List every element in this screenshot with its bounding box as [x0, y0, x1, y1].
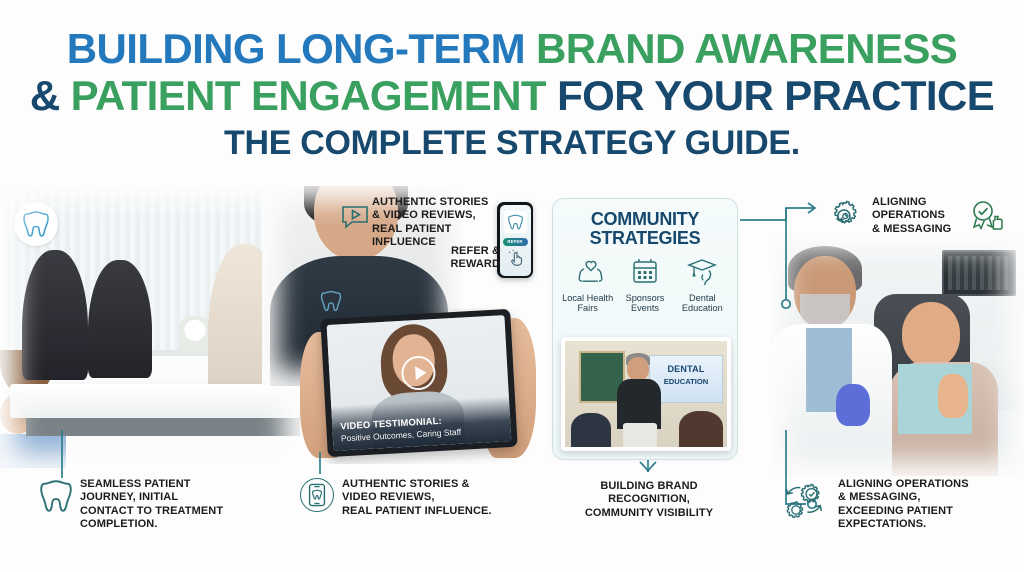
tooth-icon — [504, 211, 527, 233]
annotation-line: AUTHENTIC STORIES — [372, 196, 496, 209]
calendar-icon — [630, 256, 660, 286]
patient-thumbs-up — [938, 374, 968, 418]
photo-dental-education-classroom: DENTAL EDUCATION — [561, 337, 731, 451]
phone-screen: REFER — [500, 205, 531, 276]
dentist-gloved-thumbs-up — [836, 384, 870, 426]
annotation-text-block: AUTHENTIC STORIES & VIDEO REVIEWS, REAL … — [342, 478, 492, 518]
annotation-aligning-operations-top: ALIGNING OPERATIONS & MESSAGING — [872, 196, 968, 236]
annotation-seamless-patient-journey: SEAMLESS PATIENT JOURNEY, INITIAL CONTAC… — [40, 478, 270, 532]
photo-hands-holding-tablet: VIDEO TESTIMONIAL: Positive Outcomes, Ca… — [300, 308, 536, 464]
phone-mockup-refer-reward[interactable]: REFER — [497, 202, 533, 278]
headline-block: BUILDING LONG-TERM BRAND AWARENESS & PAT… — [0, 28, 1024, 160]
annotation-line: ALIGNING — [872, 196, 968, 209]
community-item-label: Dental Education — [674, 293, 730, 314]
annotation-line: COMMUNITY VISIBILITY — [566, 507, 732, 520]
dentist-beard — [800, 294, 850, 328]
community-card-title: COMMUNITY STRATEGIES — [553, 199, 737, 248]
gear-wrench-icon — [826, 198, 862, 234]
annotation-text-block: SEAMLESS PATIENT JOURNEY, INITIAL CONTAC… — [80, 478, 223, 532]
annotation-aligning-operations-bottom: ALIGNING OPERATIONS & MESSAGING, EXCEEDI… — [778, 478, 1016, 532]
annotation-line: ALIGNING OPERATIONS — [838, 478, 969, 491]
headline-line-1: BUILDING LONG-TERM BRAND AWARENESS — [0, 28, 1024, 70]
label-line-1: Sponsors — [617, 293, 673, 303]
community-card-title-line-1: COMMUNITY — [559, 210, 731, 229]
annotation-line: & MESSAGING, — [838, 491, 969, 504]
headline-line-2: & PATIENT ENGAGEMENT FOR YOUR PRACTICE — [0, 75, 1024, 117]
photo-dental-reception — [0, 188, 300, 468]
annotation-line: REFER & — [448, 245, 500, 258]
patient-jeans — [0, 434, 66, 468]
clinic-tooth-logo — [14, 202, 58, 246]
annotation-line: AUTHENTIC STORIES & — [342, 478, 492, 491]
reception-counter-top — [10, 384, 300, 418]
annotation-line: VIDEO REVIEWS, — [342, 491, 492, 504]
two-gears-cycle-check-icon — [778, 478, 830, 529]
presentation-title-line-1: DENTAL — [650, 364, 722, 374]
annotation-building-brand-recognition: BUILDING BRAND RECOGNITION, COMMUNITY VI… — [566, 480, 732, 520]
photo-dentist-patient-thumbs-up — [770, 232, 1024, 476]
video-chat-bubble-icon — [340, 202, 370, 232]
community-card-title-line-2: STRATEGIES — [559, 229, 731, 248]
headline-line-2-part-3: FOR YOUR PRACTICE — [546, 72, 994, 119]
annotation-authentic-stories-bottom: AUTHENTIC STORIES & VIDEO REVIEWS, REAL … — [300, 478, 525, 518]
annotation-line: BUILDING BRAND — [566, 480, 732, 493]
annotation-line: CONTACT TO TREATMENT — [80, 505, 223, 518]
annotation-line: EXCEEDING PATIENT — [838, 505, 969, 518]
annotation-line: EXPECTATIONS. — [838, 518, 969, 531]
presentation-title-line-2: EDUCATION — [650, 377, 722, 386]
infographic-canvas: BUILDING LONG-TERM BRAND AWARENESS & PAT… — [0, 0, 1024, 572]
headline-line-2-part-2: PATIENT ENGAGEMENT — [71, 72, 546, 119]
graduation-cap-icon — [685, 256, 719, 286]
annotation-authentic-stories-top: AUTHENTIC STORIES & VIDEO REVIEWS, REAL … — [372, 196, 496, 250]
headline-line-1-part-2: BRAND AWARENESS — [536, 25, 957, 72]
reception-flowers — [178, 316, 212, 352]
annotation-line: REAL PATIENT — [372, 223, 496, 236]
annotation-line: OPERATIONS — [872, 209, 968, 222]
staff-2-body — [88, 260, 152, 378]
label-line-1: Dental — [674, 293, 730, 303]
video-caption: VIDEO TESTIMONIAL: Positive Outcomes, Ca… — [331, 396, 511, 451]
label-line-1: Local Health — [560, 293, 616, 303]
tooth-icon — [40, 478, 72, 519]
annotation-line: REWARD — [448, 258, 500, 271]
audience-handout — [623, 423, 657, 447]
annotation-line: SEAMLESS PATIENT — [80, 478, 223, 491]
speaker-body — [617, 379, 661, 429]
audience-member — [571, 413, 611, 447]
tap-hand-icon — [506, 249, 526, 269]
patient-head — [902, 302, 960, 368]
community-item-local-health-fairs[interactable]: Local Health Fairs — [560, 256, 616, 314]
community-item-label: Local Health Fairs — [560, 293, 616, 314]
headline-line-2-part-1: & — [30, 72, 71, 119]
annotation-line: & VIDEO REVIEWS, — [372, 209, 496, 222]
label-line-2: Fairs — [560, 303, 616, 313]
headline-line-3: THE COMPLETE STRATEGY GUIDE. — [0, 126, 1024, 160]
tablet-device: VIDEO TESTIMONIAL: Positive Outcomes, Ca… — [320, 309, 517, 457]
quality-badge-thumbsup-icon — [966, 198, 1006, 236]
audience-member — [679, 411, 723, 447]
refer-button[interactable]: REFER — [503, 238, 528, 246]
annotation-line: RECOGNITION, — [566, 493, 732, 506]
annotation-refer-and-reward: REFER & REWARD — [448, 245, 500, 272]
annotation-text-block: ALIGNING OPERATIONS & MESSAGING, EXCEEDI… — [838, 478, 969, 532]
headline-line-1-part-1: BUILDING LONG-TERM — [67, 25, 536, 72]
classroom-scene: DENTAL EDUCATION — [565, 341, 727, 447]
community-item-sponsors-events[interactable]: Sponsors Events — [617, 256, 673, 314]
phone-tooth-circle-icon — [300, 478, 334, 512]
annotation-line: REAL PATIENT INFLUENCE. — [342, 505, 492, 518]
heart-in-hands-icon — [571, 256, 605, 286]
annotation-line: & MESSAGING — [872, 223, 968, 236]
xray-monitor — [942, 250, 1016, 296]
community-item-label: Sponsors Events — [617, 293, 673, 314]
community-strategies-card: COMMUNITY STRATEGIES Local Health Fairs — [552, 198, 738, 460]
community-item-dental-education[interactable]: Dental Education — [674, 256, 730, 314]
tablet-screen[interactable]: VIDEO TESTIMONIAL: Positive Outcomes, Ca… — [327, 315, 512, 451]
annotation-line: JOURNEY, INITIAL — [80, 491, 223, 504]
label-line-2: Education — [674, 303, 730, 313]
community-icon-row: Local Health Fairs — [553, 248, 737, 314]
annotation-line: COMPLETION. — [80, 518, 223, 531]
label-line-2: Events — [617, 303, 673, 313]
staff-1-body — [22, 250, 88, 380]
speaker-head — [627, 357, 649, 381]
